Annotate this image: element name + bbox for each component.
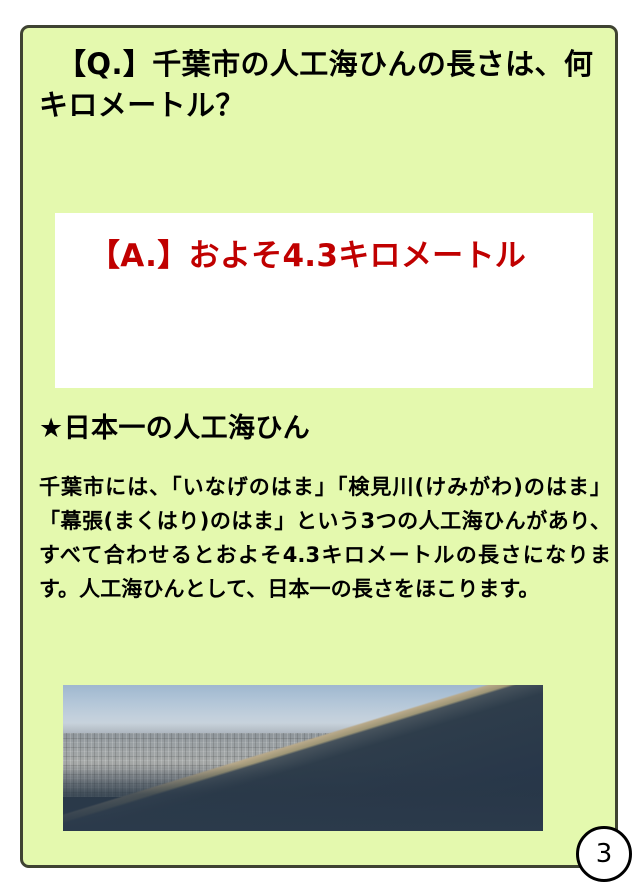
coastline-photo <box>63 685 543 831</box>
answer-text: 【A.】およそ4.3キロメートル <box>63 234 587 278</box>
answer-box: 【A.】およそ4.3キロメートル <box>55 213 593 388</box>
section-body-text: 千葉市には、「いなげのはま」「検見川(けみがわ)のはま」「幕張(まくはり)のはま… <box>39 470 611 606</box>
section-heading: ★日本一の人工海ひん <box>39 406 605 445</box>
page-number-value: 3 <box>596 839 613 869</box>
photo-water-layer <box>63 764 543 831</box>
question-text: 【Q.】千葉市の人工海ひんの長さは、何キロメートル？ <box>39 44 605 126</box>
quiz-card: 【Q.】千葉市の人工海ひんの長さは、何キロメートル？ 【A.】およそ4.3キロメ… <box>20 25 618 868</box>
page-number-badge: 3 <box>576 826 632 882</box>
